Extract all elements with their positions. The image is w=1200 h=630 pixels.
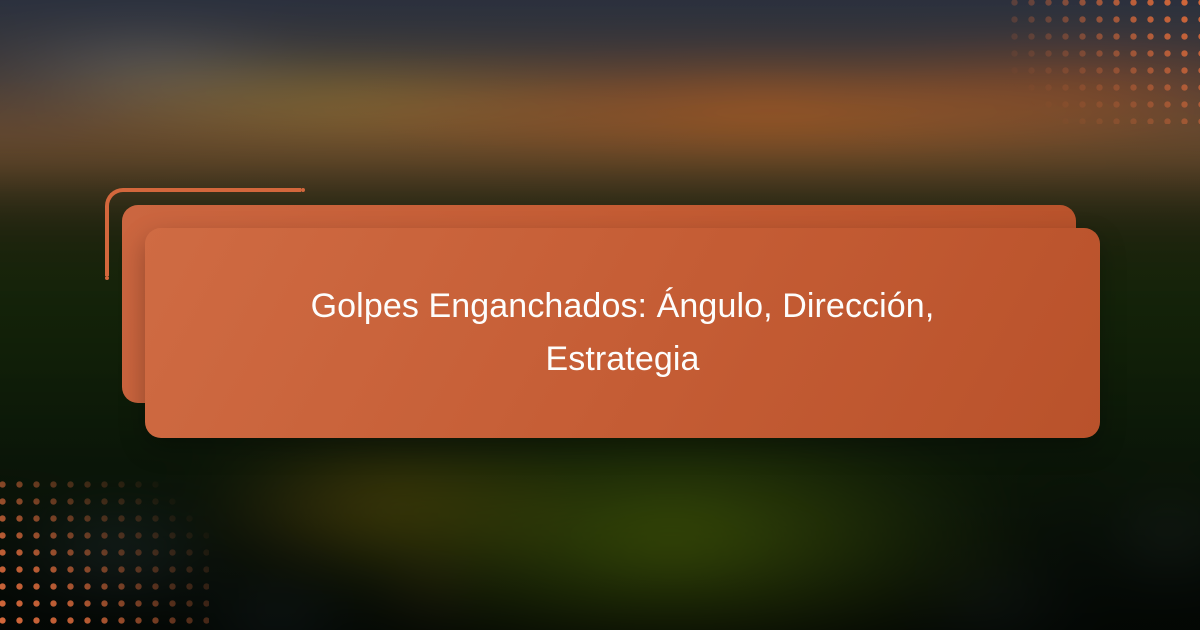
title-card-front-panel: Golpes Enganchados: Ángulo, Dirección, E… bbox=[145, 228, 1100, 438]
page-title: Golpes Enganchados: Ángulo, Dirección, E… bbox=[273, 280, 973, 386]
social-share-card: Golpes Enganchados: Ángulo, Dirección, E… bbox=[0, 0, 1200, 630]
title-card-cluster: Golpes Enganchados: Ángulo, Dirección, E… bbox=[0, 0, 1200, 630]
